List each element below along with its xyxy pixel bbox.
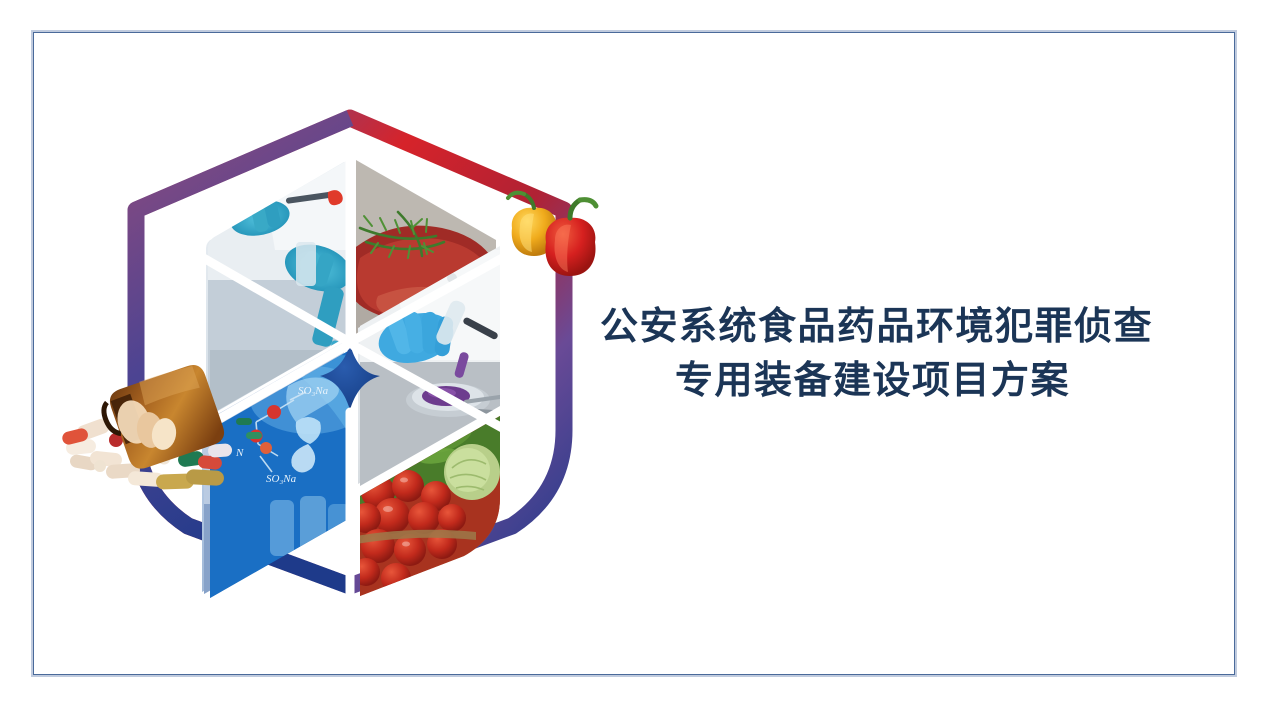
chem-label-n: N	[235, 447, 244, 459]
slide-title: 公安系统食品药品环境犯罪侦查 专用装备建设项目方案	[600, 300, 1145, 408]
title-line-1: 公安系统食品药品环境犯罪侦查	[600, 300, 1145, 354]
shield-emblem-svg: SO₃Na SO₃Na N	[60, 100, 640, 600]
shield-emblem: SO₃Na SO₃Na N	[60, 100, 640, 600]
chem-label-so3na-bottom: SO₃Na	[266, 473, 297, 485]
title-line-2: 专用装备建设项目方案	[600, 354, 1145, 408]
slide-root: SO₃Na SO₃Na N	[0, 0, 1267, 709]
